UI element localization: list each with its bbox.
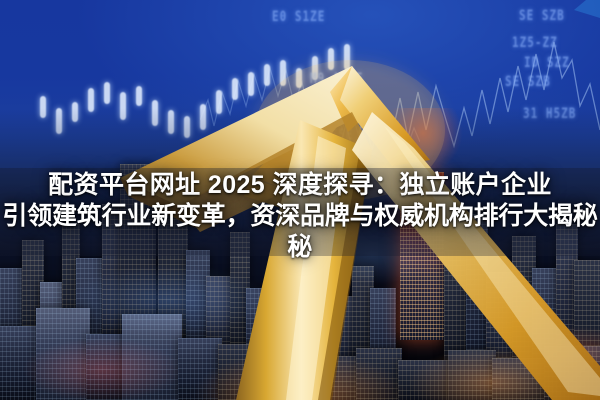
headline-line-1: 配资平台网址 2025 深度探寻：独立账户企业 [0, 170, 600, 201]
headline-text: 配资平台网址 2025 深度探寻：独立账户企业 引领建筑行业新变革，资深品牌与权… [0, 170, 600, 263]
headline-line-2: 引领建筑行业新变革，资深品牌与权威机构排行大揭秘 [0, 201, 600, 232]
poster-image: E0 S1ZESE SZB1Z5-ZZID SZZSE SZBM9 ASAEM1… [0, 0, 600, 400]
headline-line-3: 秘 [0, 232, 600, 263]
